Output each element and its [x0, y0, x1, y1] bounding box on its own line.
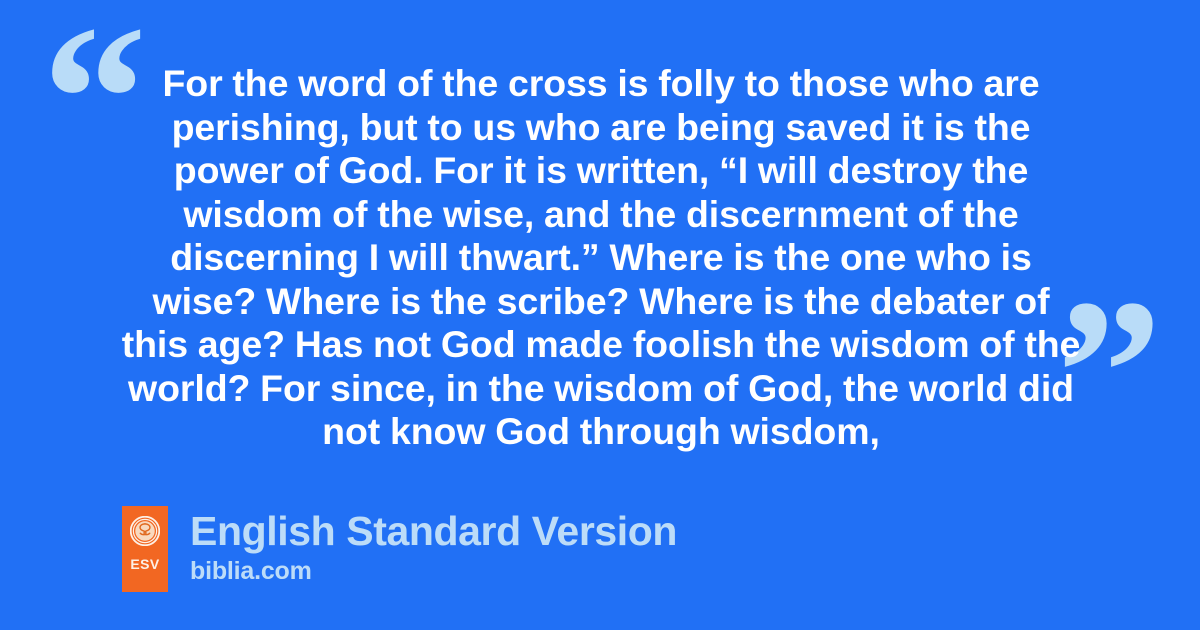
- quote-body: For the word of the cross is folly to th…: [120, 62, 1082, 454]
- footer-attribution: ESV English Standard Version biblia.com: [122, 506, 677, 592]
- esv-logo-abbreviation: ESV: [130, 557, 159, 571]
- esv-logo-badge[interactable]: ESV: [122, 506, 168, 592]
- footer-text-block: English Standard Version biblia.com: [190, 506, 677, 586]
- esv-seal-emblem-icon: [130, 516, 160, 546]
- bible-version-name: English Standard Version: [190, 508, 677, 555]
- quote-text: For the word of the cross is folly to th…: [120, 62, 1082, 454]
- verse-quote-card: “ ” For the word of the cross is folly t…: [0, 0, 1200, 630]
- site-url-label[interactable]: biblia.com: [190, 557, 677, 586]
